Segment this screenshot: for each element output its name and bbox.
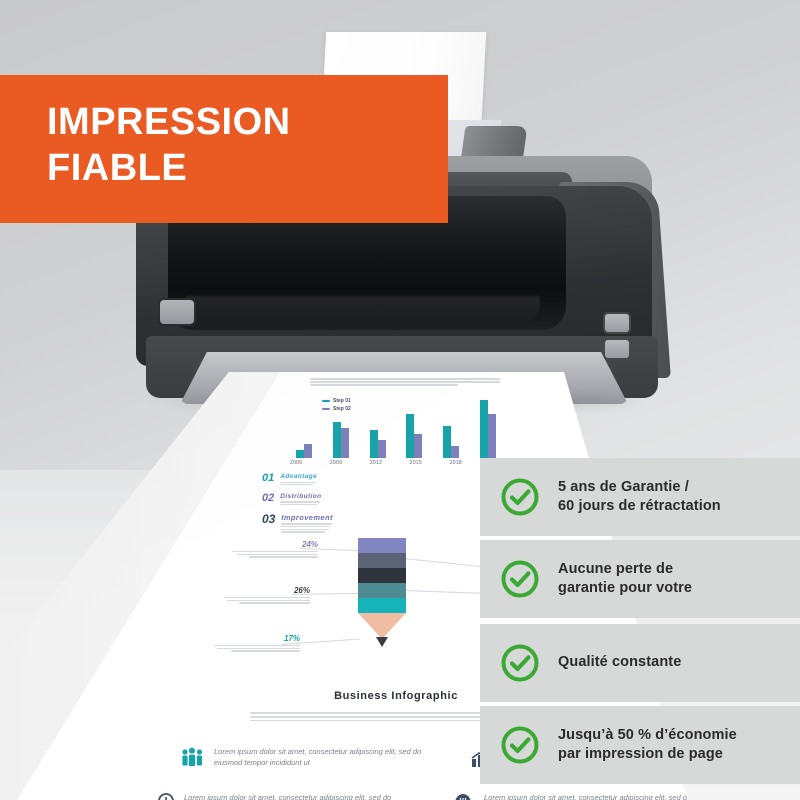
bar-step-01 xyxy=(370,430,378,458)
bar-group xyxy=(296,444,312,458)
bar-chart-x-axis: 200620092012201520182023 xyxy=(290,460,502,466)
funnel-segment-1 xyxy=(358,538,406,553)
x-tick-label: 2006 xyxy=(290,460,302,466)
step-title-03: Improvement xyxy=(281,513,333,522)
bar-step-02 xyxy=(304,444,312,458)
step-number-02: 02 xyxy=(262,492,274,504)
business-cell-text-4: Lorem ipsum dolor sit amet, consectetur … xyxy=(484,792,700,800)
pyramid-callout-26: 26% xyxy=(224,586,310,605)
headline-banner: IMPRESSION FIABLE xyxy=(0,75,448,223)
feature-line-1: 5 ans de Garantie / xyxy=(558,479,689,495)
feature-item-warranty[interactable]: 5 ans de Garantie / 60 jours de rétracta… xyxy=(480,458,800,536)
feature-line-2: 60 jours de rétractation xyxy=(558,498,721,514)
feature-line-1: Aucune perte de xyxy=(558,561,673,577)
x-tick-label: 2012 xyxy=(370,460,382,466)
pencil-wood-tip xyxy=(358,613,406,639)
bar-group xyxy=(406,414,422,458)
bar-step-02 xyxy=(451,446,459,458)
business-cell-1: Lorem ipsum dolor sit amet, consectetur … xyxy=(180,746,430,770)
step-title-01: Advantage xyxy=(280,473,317,480)
business-cell-3: Lorem ipsum dolor sit amet, consectetur … xyxy=(150,792,400,800)
pyramid-pct-26: 26% xyxy=(224,586,310,595)
check-circle-icon xyxy=(500,643,540,683)
feature-text-quality: Qualité constante xyxy=(558,653,681,672)
pyramid-pct-17: 17% xyxy=(214,634,300,643)
power-button[interactable] xyxy=(160,300,194,324)
page-title: IMPRESSION FIABLE xyxy=(47,99,291,192)
step-item-02: 02 Distribution xyxy=(262,492,512,507)
bar-step-01 xyxy=(480,400,488,458)
x-tick-label: 2009 xyxy=(330,460,342,466)
check-circle-icon xyxy=(500,725,540,765)
business-cell-text-1: Lorem ipsum dolor sit amet, consectetur … xyxy=(214,746,430,769)
feature-line-2: garantie pour votre xyxy=(558,580,692,596)
x-tick-label: 2018 xyxy=(450,460,462,466)
feature-text-warranty: 5 ans de Garantie / 60 jours de rétracta… xyxy=(558,478,721,517)
clock-phone-icon xyxy=(150,792,176,800)
business-cell-4: Lorem ipsum dolor sit amet, consectetur … xyxy=(450,792,700,800)
feature-item-quality[interactable]: Qualité constante xyxy=(480,624,800,702)
funnel-segment-5 xyxy=(358,598,406,613)
numbered-steps-list: 01 Advantage 02 Distribution 03 Improvem… xyxy=(262,472,512,539)
pencil-graphite-nib xyxy=(376,637,388,647)
printer-gloss-highlight xyxy=(186,296,540,326)
step-title-02: Distribution xyxy=(280,493,321,500)
bar-step-02 xyxy=(488,414,496,458)
step-number-01: 01 xyxy=(262,472,274,484)
business-cell-text-3: Lorem ipsum dolor sit amet, consectetur … xyxy=(184,792,400,800)
bar-step-02 xyxy=(341,428,349,458)
bar-group xyxy=(370,430,386,458)
people-group-icon xyxy=(180,746,206,770)
bar-step-01 xyxy=(333,422,341,458)
pyramid-callout-17: 17% xyxy=(214,634,300,653)
feature-line-1: Jusqu’à 50 % d’économie xyxy=(558,727,737,743)
bar-step-01 xyxy=(296,450,304,458)
x-tick-label: 2015 xyxy=(410,460,422,466)
step-item-01: 01 Advantage xyxy=(262,472,512,487)
pencil-funnel-chart xyxy=(358,538,406,639)
check-circle-icon xyxy=(500,477,540,517)
check-circle-icon xyxy=(500,559,540,599)
feed-button-bottom[interactable] xyxy=(605,340,629,358)
headline-line-2: FIABLE xyxy=(47,147,187,189)
bar-group xyxy=(443,426,459,458)
infographic-intro-paragraph xyxy=(310,378,500,386)
funnel-segment-3 xyxy=(358,568,406,583)
feature-item-no-loss[interactable]: Aucune perte de garantie pour votre xyxy=(480,540,800,618)
pyramid-pct-24: 24% xyxy=(232,540,318,549)
bar-group xyxy=(333,422,349,458)
lightbulb-idea-icon xyxy=(450,792,476,800)
feature-text-savings: Jusqu’à 50 % d’économie par impression d… xyxy=(558,726,737,765)
funnel-segment-2 xyxy=(358,553,406,568)
bar-group xyxy=(480,400,496,458)
feature-item-savings[interactable]: Jusqu’à 50 % d’économie par impression d… xyxy=(480,706,800,784)
step-number-03: 03 xyxy=(262,512,275,526)
bar-chart-plot-area xyxy=(296,396,496,458)
feature-line-2: par impression de page xyxy=(558,746,723,762)
promotional-banner-image: Banner Infographics 35% 37% Step 01 Step… xyxy=(0,0,800,800)
feature-text-no-loss: Aucune perte de garantie pour votre xyxy=(558,560,692,599)
bar-step-01 xyxy=(443,426,451,458)
bar-step-02 xyxy=(414,434,422,458)
funnel-segment-4 xyxy=(358,583,406,598)
pyramid-callout-24: 24% xyxy=(232,540,318,559)
bar-step-02 xyxy=(378,440,386,458)
step-item-03: 03 Improvement xyxy=(262,512,512,534)
headline-line-1: IMPRESSION xyxy=(47,101,291,143)
bar-step-01 xyxy=(406,414,414,458)
feed-button-top[interactable] xyxy=(605,314,629,332)
